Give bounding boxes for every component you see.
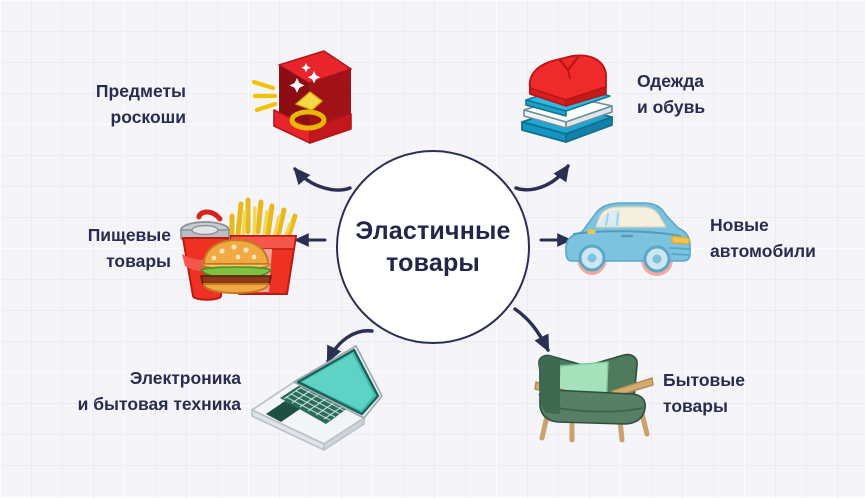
node-label-food: Пищевые товары [88,222,171,275]
node-label-clothing-line1: Одежда [637,68,705,94]
diagram-canvas: Эластичные товары Предметы роскоши [0,0,865,498]
node-label-household-line1: Бытовые [663,367,745,393]
node-label-food-line1: Пищевые [88,222,171,248]
node-label-cars-line2: автомобили [710,238,816,264]
node-label-luxury: Предметы роскоши [96,78,186,131]
node-label-electronics-line2: и бытовая техника [78,391,241,417]
folded-clothes-icon [508,44,622,156]
ring-box-icon [252,38,357,150]
node-label-food-line2: товары [88,248,171,274]
node-label-luxury-line1: Предметы [96,78,186,104]
node-label-cars: Новые автомобили [710,212,816,265]
fast-food-icon [168,192,304,306]
sofa-icon [520,338,664,450]
laptop-icon [248,332,394,456]
node-label-household: Бытовые товары [663,367,745,420]
node-label-clothing: Одежда и обувь [637,68,705,121]
arrow-to-clothing [516,166,568,190]
node-label-electronics-line1: Электроника [78,365,241,391]
center-node: Эластичные товары [336,150,530,344]
node-label-luxury-line2: роскоши [96,104,186,130]
node-label-electronics: Электроника и бытовая техника [78,365,241,418]
center-node-line1: Эластичные [355,215,510,247]
center-node-line2: товары [386,247,480,279]
arrow-to-luxury [295,169,350,190]
car-icon [560,192,694,286]
node-label-cars-line1: Новые [710,212,816,238]
node-label-clothing-line2: и обувь [637,94,705,120]
node-label-household-line2: товары [663,393,745,419]
